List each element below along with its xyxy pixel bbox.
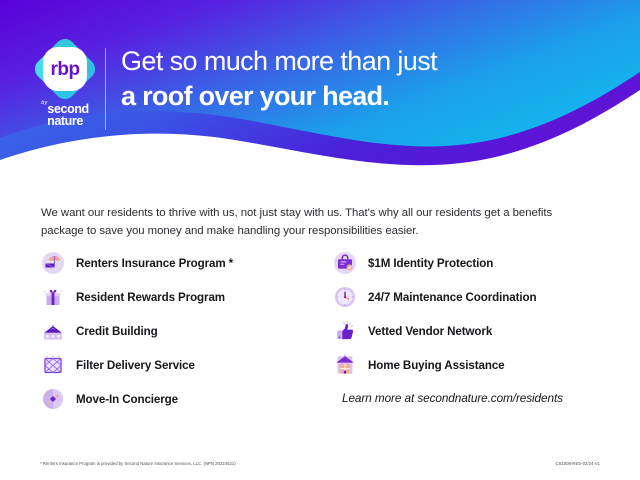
benefit-renters-insurance: Renters Insurance Program * [41, 246, 333, 280]
benefit-vetted-vendor-network: Vetted Vendor Network [333, 314, 601, 348]
benefit-home-buying-assistance: Home Buying Assistance [333, 348, 601, 382]
benefit-label: Resident Rewards Program [76, 291, 225, 304]
gift-icon [41, 285, 65, 309]
banner-gradient-waves [0, 0, 640, 182]
benefit-resident-rewards: Resident Rewards Program [41, 280, 333, 314]
briefcase-lock-icon [333, 251, 357, 275]
benefits-column-left: Renters Insurance Program * Resident Rew… [41, 246, 333, 416]
umbrella-icon [41, 251, 65, 275]
thumbs-up-icon [333, 319, 357, 343]
air-filter-icon [41, 353, 65, 377]
benefit-label: Filter Delivery Service [76, 359, 195, 372]
benefit-maintenance-coordination: 24/7 Maintenance Coordination [333, 280, 601, 314]
benefit-label: Credit Building [76, 325, 158, 338]
intro-paragraph: We want our residents to thrive with us,… [41, 204, 591, 241]
footer: * Renters Insurance Program is provided … [0, 461, 640, 466]
benefit-label: $1M Identity Protection [368, 257, 493, 270]
bank-building-icon [41, 319, 65, 343]
benefit-label: 24/7 Maintenance Coordination [368, 291, 536, 304]
benefit-label: Renters Insurance Program * [76, 257, 233, 270]
clock-icon [333, 285, 357, 309]
benefit-label: Home Buying Assistance [368, 359, 505, 372]
learn-more-link[interactable]: Learn more at secondnature.com/residents [342, 391, 601, 405]
benefit-label: Vetted Vendor Network [368, 325, 492, 338]
benefit-filter-delivery: Filter Delivery Service [41, 348, 333, 382]
marketing-flyer: rbp bysecond nature Get so much more tha… [0, 0, 640, 480]
benefit-credit-building: Credit Building [41, 314, 333, 348]
benefits-section: Renters Insurance Program * Resident Rew… [41, 246, 601, 416]
footer-disclaimer: * Renters Insurance Program is provided … [40, 461, 236, 466]
footer-document-code: CS1008-RES-02/24-V1 [556, 461, 600, 466]
benefit-label: Move-In Concierge [76, 393, 178, 406]
benefits-column-right: $1M Identity Protection 24/7 Maintenance… [333, 246, 601, 416]
benefit-identity-protection: $1M Identity Protection [333, 246, 601, 280]
header-banner: rbp bysecond nature Get so much more tha… [0, 0, 640, 182]
benefit-move-in-concierge: Move-In Concierge [41, 382, 333, 416]
concierge-badge-icon [41, 387, 65, 411]
house-icon [333, 353, 357, 377]
